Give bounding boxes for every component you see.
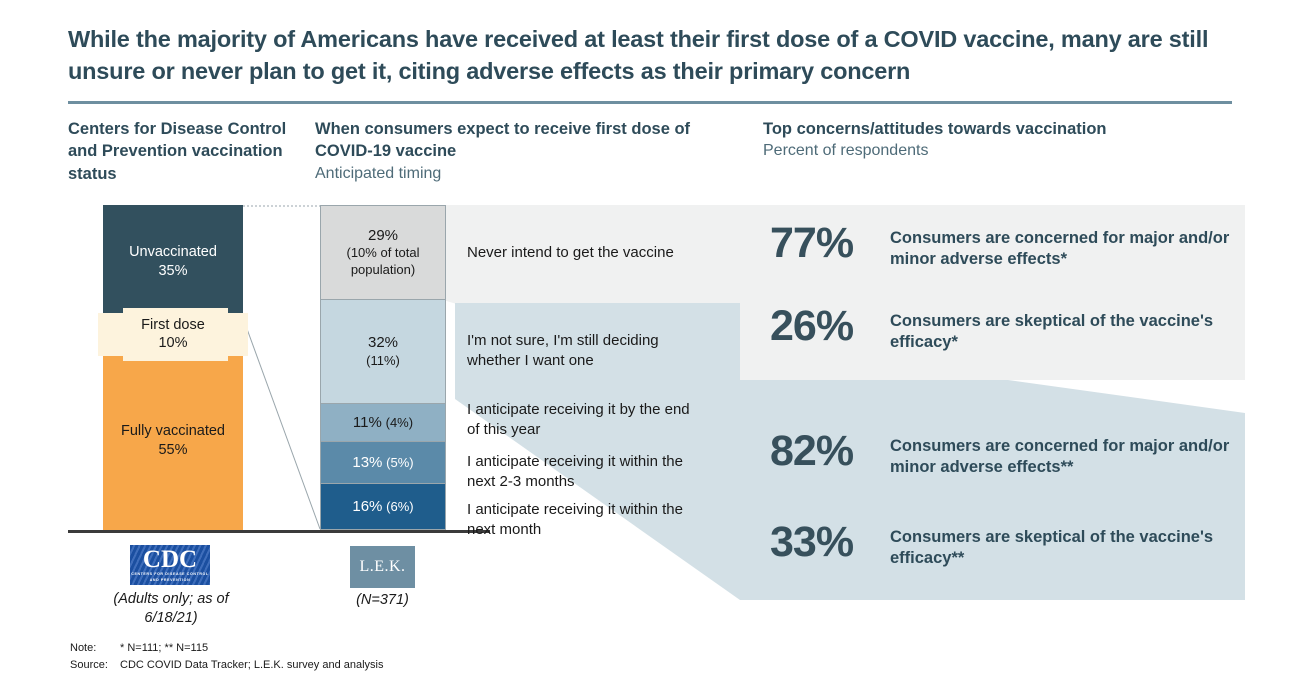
footnote-source-key: Source: bbox=[70, 657, 120, 674]
timing-segment-next-month: 16% (6%) bbox=[320, 483, 446, 530]
cdc-logo-icon: CDC CENTERS FOR DISEASE CONTROL AND PREV… bbox=[130, 545, 210, 585]
infographic-slide: While the majority of Americans have rec… bbox=[0, 0, 1300, 692]
column-header-cdc: Centers for Disease Control and Preventi… bbox=[68, 118, 298, 185]
footnote-note-row: Note: * N=111; ** N=115 bbox=[70, 640, 383, 657]
timing-segment-end-of-year: 11% (4%) bbox=[320, 403, 446, 441]
timing-segment-never: 29% (10% of total population) bbox=[320, 205, 446, 299]
segment-value-first-dose: 10% bbox=[158, 334, 187, 352]
timing-label-2-3-months: I anticipate receiving it within the nex… bbox=[467, 452, 702, 493]
segment-value-unvaccinated: 35% bbox=[129, 262, 217, 280]
timing-segment-unsure: 32% (11%) bbox=[320, 299, 446, 403]
column-header-timing: When consumers expect to receive first d… bbox=[315, 118, 715, 184]
timing-secondary-next-month: (6%) bbox=[386, 499, 413, 514]
lek-logo-wordmark: L.E.K. bbox=[350, 558, 415, 576]
timing-label-never: Never intend to get the vaccine bbox=[467, 243, 712, 263]
footnote-note-key: Note: bbox=[70, 640, 120, 657]
timing-value-next-month: 16% bbox=[352, 498, 382, 515]
bar-segment-fully-vaccinated: Fully vaccinated 55% bbox=[103, 351, 243, 530]
footnote-source-row: Source: CDC COVID Data Tracker; L.E.K. s… bbox=[70, 657, 383, 674]
column-header-concerns: Top concerns/attitudes towards vaccinati… bbox=[763, 118, 1233, 162]
timing-value-unsure: 32% bbox=[368, 333, 398, 353]
column-header-timing-title: When consumers expect to receive first d… bbox=[315, 118, 715, 163]
column-header-concerns-title: Top concerns/attitudes towards vaccinati… bbox=[763, 118, 1233, 140]
first-dose-callout-text: First dose 10% bbox=[98, 310, 248, 358]
stat-row-82: 82% Consumers are concerned for major an… bbox=[770, 430, 1240, 478]
stat-text-33: Consumers are skeptical of the vaccine's… bbox=[890, 527, 1240, 569]
leader-line-bottom bbox=[243, 318, 320, 529]
stat-number-26: 26% bbox=[770, 305, 890, 348]
timing-secondary-2-3-months: (5%) bbox=[386, 455, 413, 470]
column-header-timing-subtitle: Anticipated timing bbox=[315, 163, 715, 185]
cdc-logo-wordmark: CDC bbox=[130, 546, 210, 574]
timing-value-never: 29% bbox=[368, 226, 398, 246]
footnotes: Note: * N=111; ** N=115 Source: CDC COVI… bbox=[70, 640, 383, 673]
stat-text-77: Consumers are concerned for major and/or… bbox=[890, 228, 1240, 270]
segment-label-fully-vaccinated: Fully vaccinated bbox=[121, 422, 225, 440]
stat-number-33: 33% bbox=[770, 521, 890, 564]
timing-value-end-of-year: 11% bbox=[353, 414, 382, 431]
anticipated-timing-stacked-bar: 29% (10% of total population) 32% (11%) … bbox=[320, 205, 446, 530]
title-divider bbox=[68, 101, 1232, 104]
segment-value-fully-vaccinated: 55% bbox=[121, 441, 225, 459]
stat-row-26: 26% Consumers are skeptical of the vacci… bbox=[770, 305, 1240, 353]
cdc-logo-submark: CENTERS FOR DISEASE CONTROL AND PREVENTI… bbox=[130, 572, 210, 583]
stat-text-82: Consumers are concerned for major and/or… bbox=[890, 436, 1240, 478]
lek-sample-size-note: (N=371) bbox=[320, 592, 445, 608]
column-header-cdc-title: Centers for Disease Control and Preventi… bbox=[68, 118, 298, 185]
footnote-source-value: CDC COVID Data Tracker; L.E.K. survey an… bbox=[120, 657, 383, 674]
stat-text-26: Consumers are skeptical of the vaccine's… bbox=[890, 311, 1240, 353]
timing-secondary-never: (10% of total population) bbox=[321, 245, 445, 279]
cdc-status-stacked-bar: Unvaccinated 35% Fully vaccinated 55% Fi… bbox=[103, 205, 243, 530]
stat-number-77: 77% bbox=[770, 222, 890, 265]
stat-row-77: 77% Consumers are concerned for major an… bbox=[770, 222, 1240, 270]
footnote-note-value: * N=111; ** N=115 bbox=[120, 640, 208, 657]
timing-segment-2-3-months: 13% (5%) bbox=[320, 441, 446, 483]
timing-label-next-month: I anticipate receiving it within the nex… bbox=[467, 500, 702, 541]
segment-label-unvaccinated: Unvaccinated bbox=[129, 243, 217, 261]
timing-secondary-unsure: (11%) bbox=[366, 353, 400, 370]
column-header-concerns-subtitle: Percent of respondents bbox=[763, 140, 1233, 162]
lek-logo-icon: L.E.K. bbox=[350, 546, 415, 588]
page-title: While the majority of Americans have rec… bbox=[68, 24, 1228, 88]
stat-row-33: 33% Consumers are skeptical of the vacci… bbox=[770, 521, 1240, 569]
timing-label-end-of-year: I anticipate receiving it by the end of … bbox=[467, 400, 702, 441]
cdc-source-note: (Adults only; as of 6/18/21) bbox=[86, 590, 256, 628]
segment-label-first-dose: First dose bbox=[141, 316, 205, 334]
chart-baseline-axis bbox=[68, 530, 490, 533]
bar-segment-unvaccinated: Unvaccinated 35% bbox=[103, 205, 243, 318]
timing-label-unsure: I'm not sure, I'm still deciding whether… bbox=[467, 331, 702, 372]
stat-number-82: 82% bbox=[770, 430, 890, 473]
timing-secondary-end-of-year: (4%) bbox=[386, 415, 413, 430]
timing-value-2-3-months: 13% bbox=[352, 454, 382, 471]
